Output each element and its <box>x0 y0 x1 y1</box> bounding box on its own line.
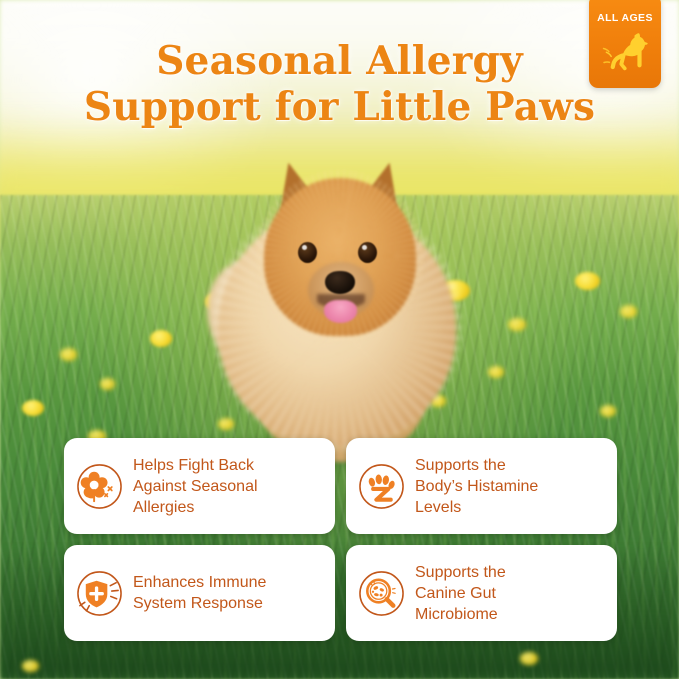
benefit-card-immune: Enhances Immune System Response <box>64 545 335 641</box>
dog-tongue <box>324 300 357 323</box>
flower-pollen-icon <box>76 463 123 510</box>
benefit-card-microbiome: Supports the Canine Gut Microbiome <box>346 545 617 641</box>
dandelion-icon <box>508 318 526 331</box>
benefit-card-histamine: Supports the Body’s Histamine Levels <box>346 438 617 534</box>
dog-eye-highlight <box>362 245 367 250</box>
dog-eye-right <box>358 242 377 263</box>
magnifier-microbe-icon <box>358 570 405 617</box>
sitting-dog-icon <box>599 26 651 76</box>
benefit-cards: Helps Fight Back Against Seasonal Allerg… <box>64 438 617 641</box>
dandelion-icon <box>150 330 172 347</box>
dog-eye-highlight <box>302 245 307 250</box>
benefit-card-label: Supports the Body’s Histamine Levels <box>415 455 538 518</box>
dog-eye-left <box>298 242 317 263</box>
dandelion-icon <box>60 348 77 361</box>
page-title: Seasonal Allergy Support for Little Paws <box>0 38 679 130</box>
product-infographic: Seasonal Allergy Support for Little Paws… <box>0 0 679 679</box>
paw-with-z-icon <box>358 463 405 510</box>
all-ages-badge-label: ALL AGES <box>597 12 653 24</box>
dandelion-icon <box>100 378 115 390</box>
all-ages-badge: ALL AGES <box>589 0 661 88</box>
dandelion-icon <box>22 400 44 416</box>
dandelion-icon <box>520 652 538 665</box>
dandelion-icon <box>600 405 616 417</box>
benefit-card-label: Helps Fight Back Against Seasonal Allerg… <box>133 455 258 518</box>
benefit-card-label: Enhances Immune System Response <box>133 572 266 614</box>
dandelion-icon <box>620 305 637 318</box>
benefit-card-allergies: Helps Fight Back Against Seasonal Allerg… <box>64 438 335 534</box>
shield-plus-icon <box>76 570 123 617</box>
pomeranian-dog <box>212 150 462 480</box>
dandelion-icon <box>22 660 39 672</box>
dandelion-icon <box>488 366 504 378</box>
dog-nose <box>325 271 355 294</box>
dandelion-icon <box>575 272 600 290</box>
benefit-card-label: Supports the Canine Gut Microbiome <box>415 562 506 625</box>
